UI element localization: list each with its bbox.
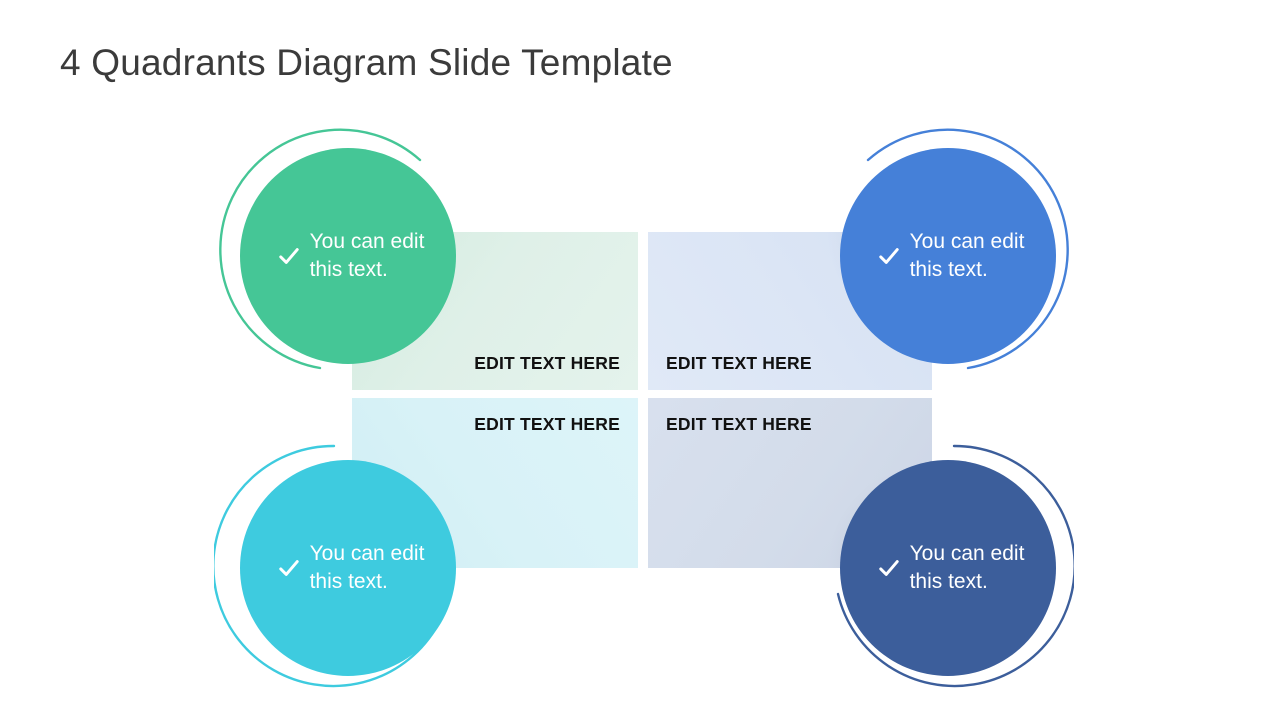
quadrant-bottom-right-label: EDIT TEXT HERE <box>666 412 812 437</box>
node-bottom-left[interactable]: You can edit this text. <box>214 434 474 694</box>
node-bottom-left-disc[interactable]: You can edit this text. <box>240 460 456 676</box>
node-top-right[interactable]: You can edit this text. <box>814 122 1074 382</box>
slide-canvas: 4 Quadrants Diagram Slide Template EDIT … <box>0 0 1280 720</box>
node-top-right-text: You can edit this text. <box>910 228 1025 285</box>
node-top-right-disc[interactable]: You can edit this text. <box>840 148 1056 364</box>
node-bottom-left-text: You can edit this text. <box>310 540 425 597</box>
quadrant-bottom-left-label: EDIT TEXT HERE <box>474 412 620 437</box>
check-icon <box>278 557 300 579</box>
node-top-left[interactable]: You can edit this text. <box>214 122 474 382</box>
check-icon <box>878 557 900 579</box>
quadrant-top-left-label: EDIT TEXT HERE <box>474 351 620 376</box>
check-icon <box>878 245 900 267</box>
page-title: 4 Quadrants Diagram Slide Template <box>60 42 673 84</box>
node-top-left-disc[interactable]: You can edit this text. <box>240 148 456 364</box>
quadrant-top-right-label: EDIT TEXT HERE <box>666 351 812 376</box>
check-icon <box>278 245 300 267</box>
node-bottom-right-text: You can edit this text. <box>910 540 1025 597</box>
node-top-left-text: You can edit this text. <box>310 228 425 285</box>
node-bottom-right-disc[interactable]: You can edit this text. <box>840 460 1056 676</box>
node-bottom-right[interactable]: You can edit this text. <box>814 434 1074 694</box>
